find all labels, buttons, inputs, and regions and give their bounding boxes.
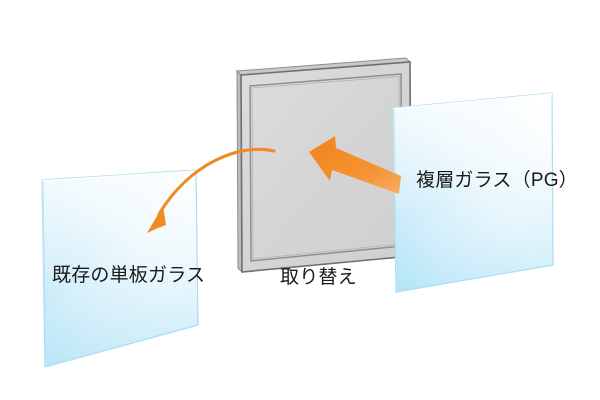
right-glass-sheen [393,93,553,292]
glass-panel-icon-left [42,170,198,367]
left-glass-sheen [42,170,198,367]
diagram-canvas: 既存の単板ガラス 取り替え 複層ガラス（PG） [0,0,600,400]
diagram-scene [0,0,600,400]
glass-panel-icon-right [393,93,553,292]
